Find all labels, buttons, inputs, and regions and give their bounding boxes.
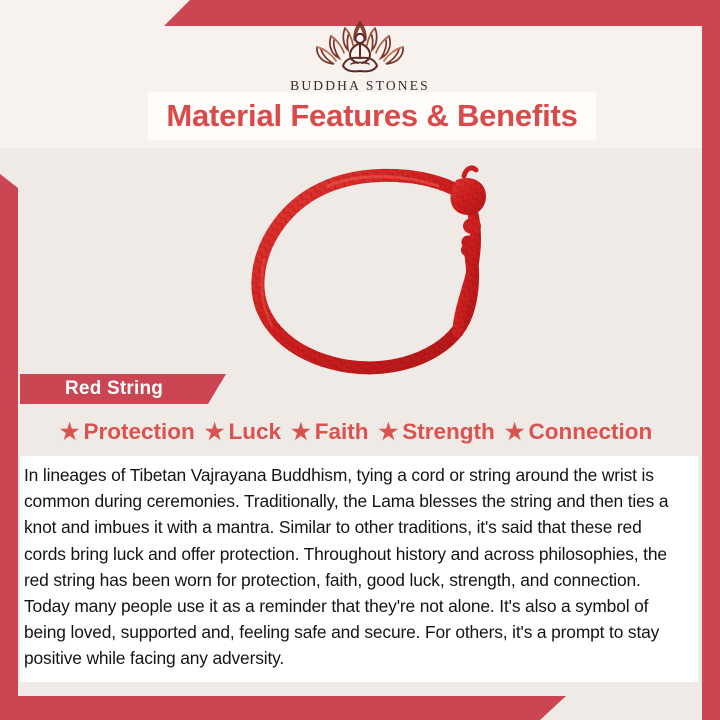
title-banner: Material Features & Benefits [148, 92, 596, 140]
benefit-label: Luck [229, 419, 282, 445]
benefits-list: ★ Protection ★ Luck ★ Faith ★ Strength ★… [20, 419, 692, 445]
poster-root: BUDDHA STONES Material Features & Benefi… [0, 0, 720, 720]
benefit-label: Connection [528, 419, 652, 445]
benefit-label: Strength [402, 419, 495, 445]
decorative-band-right [702, 0, 720, 720]
lotus-meditation-icon [301, 14, 419, 76]
benefit-item: ★ Connection [505, 419, 652, 445]
description-text: In lineages of Tibetan Vajrayana Buddhis… [24, 462, 688, 672]
benefit-item: ★ Luck [205, 419, 281, 445]
brand-logo: BUDDHA STONES [0, 14, 720, 94]
decorative-band-left [0, 160, 18, 720]
benefit-item: ★ Strength [379, 419, 495, 445]
star-icon: ★ [60, 421, 80, 443]
product-tag-banner: Red String [20, 374, 226, 404]
description-block: In lineages of Tibetan Vajrayana Buddhis… [20, 456, 698, 682]
page-title: Material Features & Benefits [166, 98, 577, 134]
star-icon: ★ [379, 421, 399, 443]
star-icon: ★ [505, 421, 525, 443]
benefit-label: Faith [315, 419, 369, 445]
benefit-item: ★ Protection [60, 419, 195, 445]
product-tag-label: Red String [65, 378, 163, 400]
red-braided-string-bracelet-image [228, 150, 512, 378]
star-icon: ★ [291, 421, 311, 443]
benefit-item: ★ Faith [291, 419, 368, 445]
benefit-label: Protection [84, 419, 195, 445]
star-icon: ★ [205, 421, 225, 443]
